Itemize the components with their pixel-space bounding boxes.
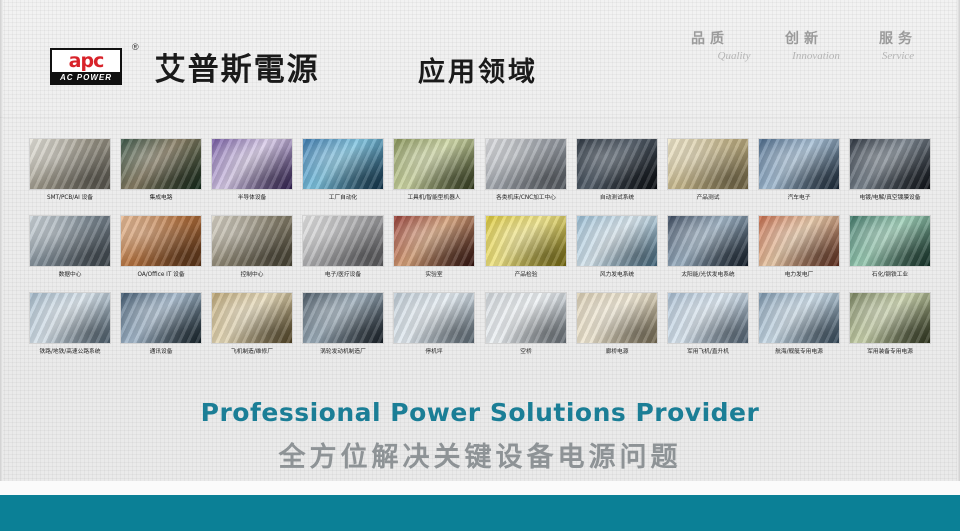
slogan-en-quality: Quality [700,50,768,62]
application-cell-caption: 军用飞机/直升机 [662,348,754,356]
header-divider [0,117,960,118]
application-cell-caption: 电镀/电解/真空镀膜设备 [844,194,936,202]
aircraft-manufacturing-photo[interactable] [211,292,293,344]
rail-metro-highway-photo[interactable] [29,292,111,344]
thumbnail-texture-overlay [759,293,839,343]
smt-pcb-line-photo[interactable] [29,138,111,190]
tagline-chinese: 全方位解决关键设备电源问题 [0,435,960,474]
industrial-robot-photo[interactable] [393,138,475,190]
thumbnail-texture-overlay [121,293,201,343]
thumbnail-texture-overlay [759,139,839,189]
office-it-photo[interactable] [120,215,202,267]
application-fields-grid: SMT/PCB/AI 设备集成电路半导体设备工厂自动化工具机/智能型机器人各类机… [24,138,936,369]
page-header: apc AC POWER ® 艾普斯電源 应用领域 品质 创新 服务 Quali… [0,0,960,118]
grid-row: SMT/PCB/AI 设备集成电路半导体设备工厂自动化工具机/智能型机器人各类机… [24,138,936,202]
tagline-english: Professional Power Solutions Provider [0,398,960,427]
slogan-cn-innovation: 创新 [770,28,838,48]
application-cell[interactable]: 空桥 [480,292,571,356]
tagline-banner: Professional Power Solutions Provider 全方… [0,398,960,474]
slogan-cn-quality: 品质 [676,28,744,48]
application-cell[interactable]: 工厂自动化 [298,138,389,202]
data-center-photo[interactable] [29,215,111,267]
application-cell[interactable]: 军用装备专用电源 [845,292,936,356]
slogan-en-innovation: Innovation [782,50,850,62]
application-cell[interactable]: 汽车电子 [754,138,845,202]
application-cell-caption: 太阳能/光伏发电系统 [662,271,754,279]
application-cell[interactable]: 电镀/电解/真空镀膜设备 [845,138,936,202]
jet-bridge-photo[interactable] [485,292,567,344]
application-cell-caption: 通讯设备 [115,348,207,356]
thumbnail-texture-overlay [303,216,383,266]
application-cell[interactable]: 涡轮发动机制造厂 [298,292,389,356]
bottom-accent-bar [0,495,960,531]
petrochemical-steel-photo[interactable] [849,215,931,267]
cnc-machine-photo[interactable] [485,138,567,190]
application-cell-caption: 产品检验 [480,271,572,279]
apc-logo-subtitle: AC POWER [52,72,120,83]
application-cell[interactable]: 电力发电厂 [754,215,845,279]
application-cell[interactable]: 实验室 [389,215,480,279]
slogan-chinese-row: 品质 创新 服务 [676,28,932,48]
application-cell-caption: 铁路/地铁/高速公路系统 [24,348,116,356]
application-cell[interactable]: 自动测试系统 [571,138,662,202]
airport-apron-photo[interactable] [393,292,475,344]
thumbnail-texture-overlay [668,139,748,189]
brand-name-chinese: 艾普斯電源 [155,44,320,89]
application-cell-caption: 军用装备专用电源 [844,348,936,356]
application-cell-caption: 汽车电子 [753,194,845,202]
thumbnail-texture-overlay [486,293,566,343]
naval-ship-photo[interactable] [758,292,840,344]
application-cell[interactable]: 各类机床/CNC加工中心 [480,138,571,202]
application-cell-caption: 集成电路 [115,194,207,202]
application-cell[interactable]: 产品检验 [480,215,571,279]
thumbnail-texture-overlay [577,293,657,343]
solar-pv-photo[interactable] [667,215,749,267]
application-cell[interactable]: 控制中心 [206,215,297,279]
thumbnail-texture-overlay [577,216,657,266]
thumbnail-texture-overlay [303,139,383,189]
thumbnail-texture-overlay [30,139,110,189]
thumbnail-texture-overlay [668,293,748,343]
thumbnail-texture-overlay [486,139,566,189]
thumbnail-texture-overlay [850,293,930,343]
application-cell[interactable]: 石化/钢铁工业 [845,215,936,279]
thumbnail-texture-overlay [394,139,474,189]
thumbnail-texture-overlay [850,216,930,266]
laboratory-photo[interactable] [393,215,475,267]
thumbnail-texture-overlay [121,216,201,266]
thumbnail-texture-overlay [394,216,474,266]
application-cell[interactable]: 太阳能/光伏发电系统 [662,215,753,279]
medical-equipment-photo[interactable] [302,215,384,267]
application-cell[interactable]: 半导体设备 [206,138,297,202]
application-cell-caption: 工厂自动化 [297,194,389,202]
slogan-block: 品质 创新 服务 Quality Innovation Service [676,28,932,62]
thumbnail-texture-overlay [759,216,839,266]
application-cell-caption: 飞机制造/维修厂 [206,348,298,356]
application-cell-caption: 风力发电系统 [571,271,663,279]
semiconductor-wafer-photo[interactable] [211,138,293,190]
thumbnail-texture-overlay [30,293,110,343]
application-cell[interactable]: 风力发电系统 [571,215,662,279]
product-testing-photo[interactable] [667,138,749,190]
thumbnail-texture-overlay [668,216,748,266]
application-cell-caption: 产品测试 [662,194,754,202]
application-cell[interactable]: 航海/舰艇专用电源 [754,292,845,356]
application-cell[interactable]: 工具机/智能型机器人 [389,138,480,202]
application-cell-caption: SMT/PCB/AI 设备 [24,194,116,202]
application-cell-caption: 半导体设备 [206,194,298,202]
application-cell[interactable]: SMT/PCB/AI 设备 [24,138,115,202]
application-cell-caption: 电子/医疗设备 [297,271,389,279]
application-cell-caption: 停机坪 [388,348,480,356]
application-cell[interactable]: OA/Office IT 设备 [115,215,206,279]
application-cell-caption: 自动测试系统 [571,194,663,202]
wind-turbine-photo[interactable] [576,215,658,267]
application-cell[interactable]: 产品测试 [662,138,753,202]
application-cell-caption: 工具机/智能型机器人 [388,194,480,202]
application-cell[interactable]: 停机坪 [389,292,480,356]
application-cell-caption: 数据中心 [24,271,116,279]
slogan-en-service: Service [864,50,932,62]
application-cell[interactable]: 电子/医疗设备 [298,215,389,279]
thumbnail-texture-overlay [121,139,201,189]
thumbnail-texture-overlay [212,293,292,343]
military-equipment-photo[interactable] [849,292,931,344]
page-title: 应用领域 [418,50,538,89]
thumbnail-texture-overlay [212,216,292,266]
application-cell-caption: 廊桥电源 [571,348,663,356]
application-cell-caption: 石化/钢铁工业 [844,271,936,279]
automotive-electronics-photo[interactable] [758,138,840,190]
application-cell-caption: 实验室 [388,271,480,279]
registered-trademark-icon: ® [132,42,139,52]
slogan-cn-service: 服务 [864,28,932,48]
thumbnail-texture-overlay [577,139,657,189]
apc-logo: apc AC POWER [50,48,122,85]
thumbnail-texture-overlay [394,293,474,343]
power-plant-photo[interactable] [758,215,840,267]
thumbnail-texture-overlay [303,293,383,343]
automated-test-rack-photo[interactable] [576,138,658,190]
application-cell-caption: 空桥 [480,348,572,356]
grid-row: 数据中心OA/Office IT 设备控制中心电子/医疗设备实验室产品检验风力发… [24,215,936,279]
apc-logo-wordmark: apc [69,51,104,71]
application-cell-caption: 涡轮发动机制造厂 [297,348,389,356]
slogan-english-row: Quality Innovation Service [676,50,932,62]
application-cell-caption: OA/Office IT 设备 [115,271,207,279]
turbine-engine-photo[interactable] [302,292,384,344]
application-cell[interactable]: 通讯设备 [115,292,206,356]
circuit-board-photo[interactable] [120,138,202,190]
telecom-antenna-photo[interactable] [120,292,202,344]
military-aircraft-photo[interactable] [667,292,749,344]
thumbnail-texture-overlay [212,139,292,189]
thumbnail-texture-overlay [486,216,566,266]
application-cell-caption: 航海/舰艇专用电源 [753,348,845,356]
bridge-power-supply-photo[interactable] [576,292,658,344]
application-cell[interactable]: 铁路/地铁/高速公路系统 [24,292,115,356]
control-center-photo[interactable] [211,215,293,267]
application-cell-caption: 各类机床/CNC加工中心 [480,194,572,202]
factory-automation-photo[interactable] [302,138,384,190]
application-cell[interactable]: 廊桥电源 [571,292,662,356]
application-cell[interactable]: 数据中心 [24,215,115,279]
thumbnail-texture-overlay [850,139,930,189]
plating-vacuum-equipment-photo[interactable] [849,138,931,190]
thumbnail-texture-overlay [30,216,110,266]
application-cell-caption: 控制中心 [206,271,298,279]
grid-row: 铁路/地铁/高速公路系统通讯设备飞机制造/维修厂涡轮发动机制造厂停机坪空桥廊桥电… [24,292,936,356]
bottom-white-gap [0,481,960,495]
application-cell[interactable]: 集成电路 [115,138,206,202]
product-inspection-photo[interactable] [485,215,567,267]
application-cell-caption: 电力发电厂 [753,271,845,279]
application-cell[interactable]: 军用飞机/直升机 [662,292,753,356]
application-cell[interactable]: 飞机制造/维修厂 [206,292,297,356]
brand-block: apc AC POWER ® 艾普斯電源 [50,44,320,89]
